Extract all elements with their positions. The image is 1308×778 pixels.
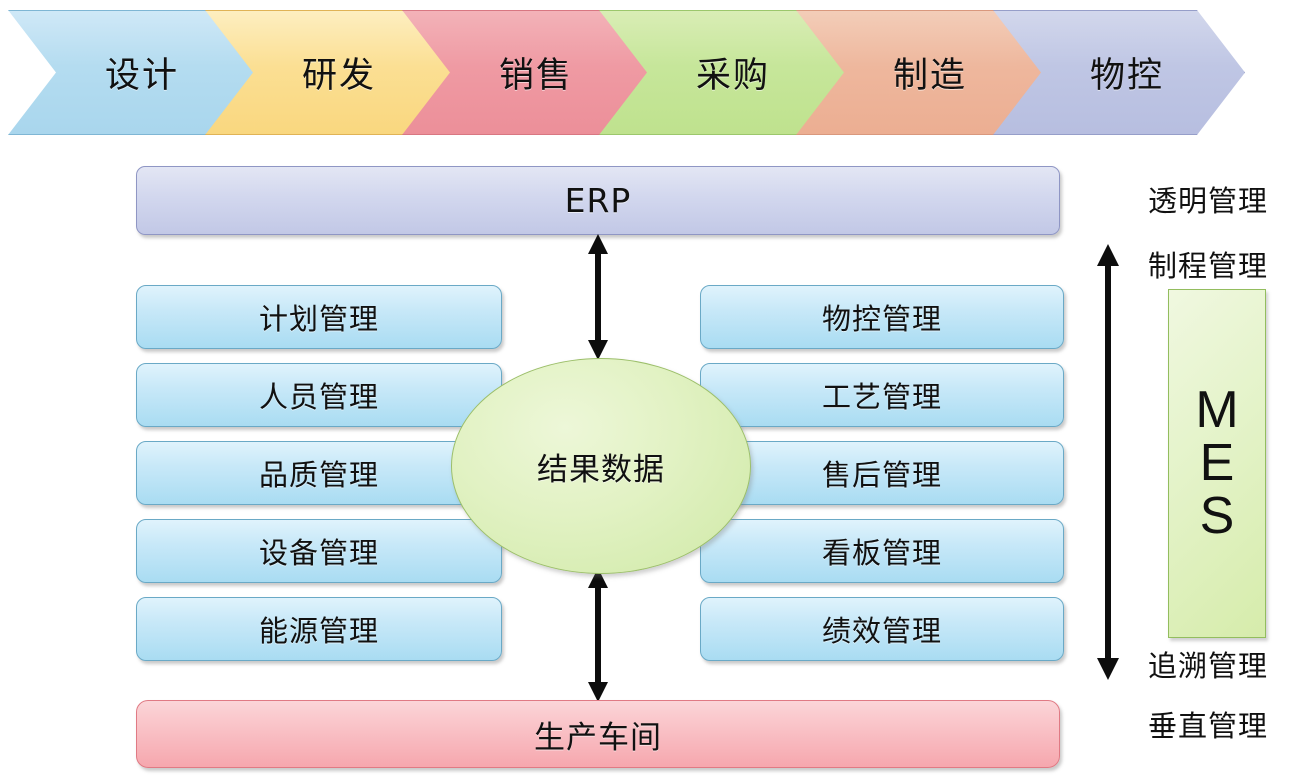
- module-label: 物控管理: [822, 296, 942, 338]
- module-box-plan[interactable]: 计划管理: [136, 285, 502, 349]
- module-label: 工艺管理: [822, 374, 942, 416]
- arrow-mes-span-icon: [1086, 242, 1130, 682]
- arrow-erp-to-center-icon: [576, 232, 620, 362]
- module-box-energy[interactable]: 能源管理: [136, 597, 502, 661]
- module-box-equipment[interactable]: 设备管理: [136, 519, 502, 583]
- arrow-center-to-shopfloor-icon: [576, 566, 620, 704]
- center-label: 结果数据: [537, 444, 665, 489]
- module-label: 绩效管理: [822, 608, 942, 650]
- module-box-quality[interactable]: 品质管理: [136, 441, 502, 505]
- module-box-personnel[interactable]: 人员管理: [136, 363, 502, 427]
- mes-top-label-transparent: 透明管理: [1148, 178, 1300, 220]
- module-box-performance[interactable]: 绩效管理: [700, 597, 1064, 661]
- module-box-kanban[interactable]: 看板管理: [700, 519, 1064, 583]
- mes-top-label-process: 制程管理: [1148, 243, 1300, 285]
- module-label: 看板管理: [822, 530, 942, 572]
- module-label: 设备管理: [259, 530, 379, 572]
- erp-bar[interactable]: ERP: [136, 166, 1060, 235]
- process-chevron-row: 设计 研发 销售 采购 制造 物控: [0, 0, 1308, 150]
- module-box-material-control[interactable]: 物控管理: [700, 285, 1064, 349]
- module-box-process[interactable]: 工艺管理: [700, 363, 1064, 427]
- diagram-canvas: 设计 研发 销售 采购 制造 物控 ERP 计划管理 人员管理: [0, 0, 1308, 778]
- process-step-label: 制造: [893, 47, 967, 98]
- shopfloor-label: 生产车间: [534, 712, 662, 757]
- mes-letter-s: S: [1200, 490, 1235, 543]
- mes-bottom-label-traceability: 追溯管理: [1148, 643, 1300, 685]
- process-step-label: 采购: [696, 47, 770, 98]
- center-result-data-ellipse[interactable]: 结果数据: [451, 358, 751, 574]
- mes-letter-e: E: [1200, 437, 1235, 490]
- module-label: 能源管理: [259, 608, 379, 650]
- module-box-aftersales[interactable]: 售后管理: [700, 441, 1064, 505]
- module-label: 售后管理: [822, 452, 942, 494]
- mes-box[interactable]: M E S: [1168, 289, 1266, 638]
- erp-label: ERP: [565, 181, 632, 220]
- mes-letter-m: M: [1195, 384, 1238, 437]
- module-label: 品质管理: [259, 452, 379, 494]
- process-step-label: 销售: [499, 47, 573, 98]
- mes-bottom-label-vertical: 垂直管理: [1148, 703, 1300, 745]
- shopfloor-bar[interactable]: 生产车间: [136, 700, 1060, 768]
- module-label: 计划管理: [259, 296, 379, 338]
- process-step-label: 物控: [1090, 47, 1164, 98]
- process-step-label: 研发: [302, 47, 376, 98]
- module-label: 人员管理: [259, 374, 379, 416]
- process-step-label: 设计: [105, 47, 179, 98]
